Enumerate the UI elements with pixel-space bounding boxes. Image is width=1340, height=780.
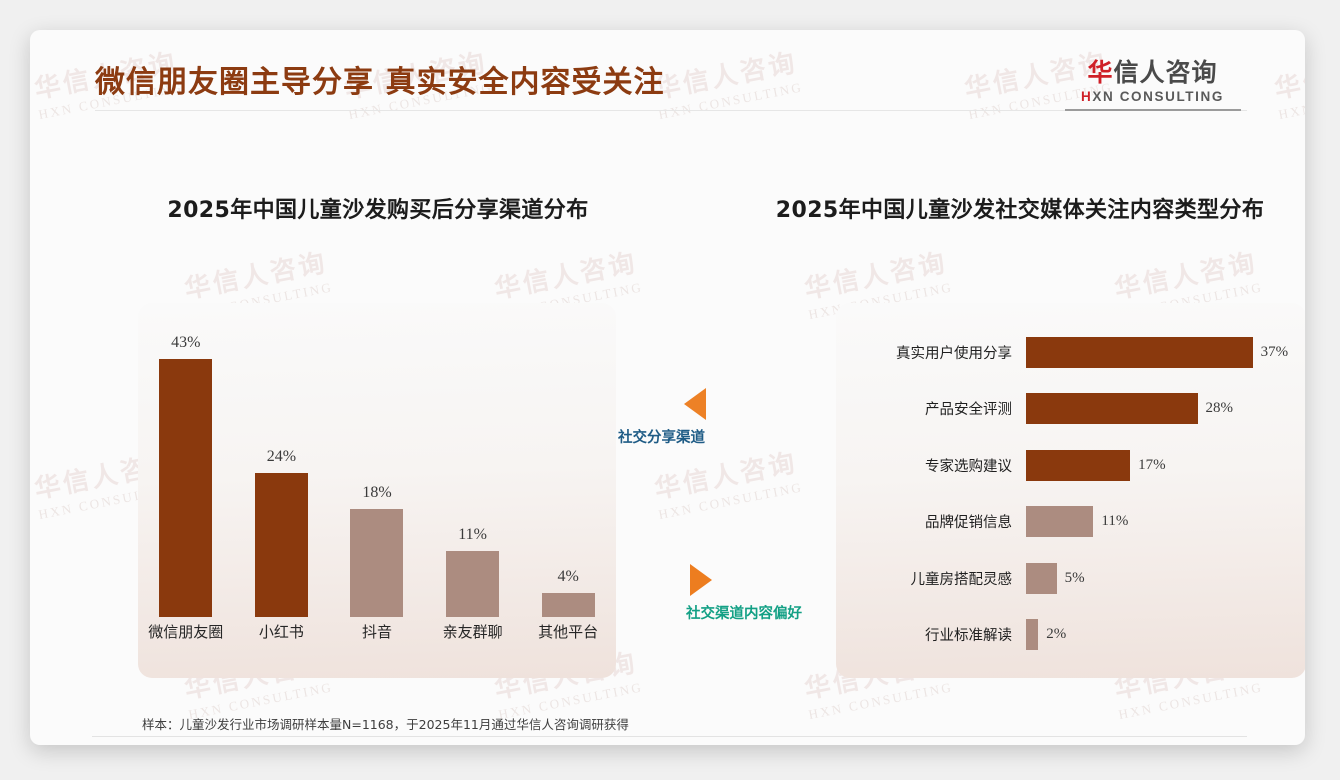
bar-category-label: 微信朋友圈 [138,621,234,651]
annotation-right-label: 社交渠道内容偏好 [686,602,802,623]
vertical-bar-column: 11% [425,285,521,617]
slide-header: 微信朋友圈主导分享 真实安全内容受关注 华信人咨询 HXN CONSULTING [30,30,1305,130]
vertical-bar-chart: 43%24%18%11%4% 微信朋友圈小红书抖音亲友群聊其他平台 [138,285,616,651]
bar-value-label: 24% [267,448,296,466]
vertical-bar-columns: 43%24%18%11%4% [138,285,616,617]
vertical-bar-column: 18% [329,285,425,617]
triangle-right-icon [690,564,712,596]
logo-underline [1065,109,1241,111]
bar [1026,450,1130,481]
vertical-bar-column: 43% [138,285,234,617]
bar [1026,393,1198,424]
bar-category-label: 产品安全评测 [836,398,1026,419]
annotation-content-preference: 社交渠道内容偏好 [686,564,802,623]
triangle-left-icon [684,388,706,420]
bar-category-label: 品牌促销信息 [836,511,1026,532]
annotation-social-share-channel: 社交分享渠道 [618,388,706,447]
bar-category-label: 专家选购建议 [836,455,1026,476]
right-chart-title: 2025年中国儿童沙发社交媒体关注内容类型分布 [730,192,1305,224]
bar [159,359,212,617]
logo-english: HXN CONSULTING [1060,89,1245,104]
bar-category-label: 儿童房搭配灵感 [836,568,1026,589]
bar-category-label: 亲友群聊 [425,621,521,651]
bar [1026,563,1057,594]
bar [1026,337,1253,368]
logo-chinese: 华信人咨询 [1060,60,1245,86]
horizontal-bar-chart: 真实用户使用分享37%产品安全评测28%专家选购建议17%品牌促销信息11%儿童… [836,318,1305,663]
horizontal-bar-row: 产品安全评测28% [836,392,1305,426]
footer-divider [92,736,1247,737]
bar-value-label: 11% [458,526,487,544]
vertical-bar-column: 24% [234,285,330,617]
bar-category-label: 小红书 [234,621,330,651]
logo-chinese-rest: 信人咨询 [1114,58,1218,87]
vertical-bar-category-labels: 微信朋友圈小红书抖音亲友群聊其他平台 [138,621,616,651]
annotation-left-label: 社交分享渠道 [618,426,706,447]
bar [446,551,499,617]
bar-category-label: 真实用户使用分享 [836,342,1026,363]
bar-value-label: 11% [1101,513,1128,530]
logo-chinese-first-char: 华 [1087,58,1113,87]
left-chart-title: 2025年中国儿童沙发购买后分享渠道分布 [108,192,648,224]
bar [1026,619,1038,650]
bar-value-label: 28% [1206,400,1234,417]
brand-logo: 华信人咨询 HXN CONSULTING [1060,60,1245,111]
bar-category-label: 其他平台 [520,621,616,651]
bar-category-label: 行业标准解读 [836,624,1026,645]
bar-value-label: 5% [1065,570,1085,587]
slide-canvas: 华信人咨询HXN CONSULTING华信人咨询HXN CONSULTING华信… [30,30,1305,745]
horizontal-bar-row: 行业标准解读2% [836,618,1305,652]
sample-note: 样本：儿童沙发行业市场调研样本量N=1168，于2025年11月通过华信人咨询调… [142,714,629,733]
bar [255,473,308,617]
logo-english-rest: XN CONSULTING [1092,89,1224,104]
bar-value-label: 37% [1261,344,1289,361]
page-title: 微信朋友圈主导分享 真实安全内容受关注 [95,57,664,101]
horizontal-bar-row: 儿童房搭配灵感5% [836,561,1305,595]
bar [350,509,403,617]
horizontal-bar-row: 专家选购建议17% [836,448,1305,482]
horizontal-bar-row: 真实用户使用分享37% [836,335,1305,369]
watermark-text: 华信人咨询HXN CONSULTING [650,442,804,523]
bar-value-label: 17% [1138,457,1166,474]
bar-value-label: 18% [362,484,391,502]
bar [1026,506,1093,537]
bar-value-label: 2% [1046,626,1066,643]
bar-value-label: 4% [558,568,579,586]
bar [542,593,595,617]
bar-category-label: 抖音 [329,621,425,651]
logo-english-first-char: H [1081,89,1092,104]
vertical-bar-column: 4% [520,285,616,617]
bar-value-label: 43% [171,334,200,352]
horizontal-bar-row: 品牌促销信息11% [836,505,1305,539]
